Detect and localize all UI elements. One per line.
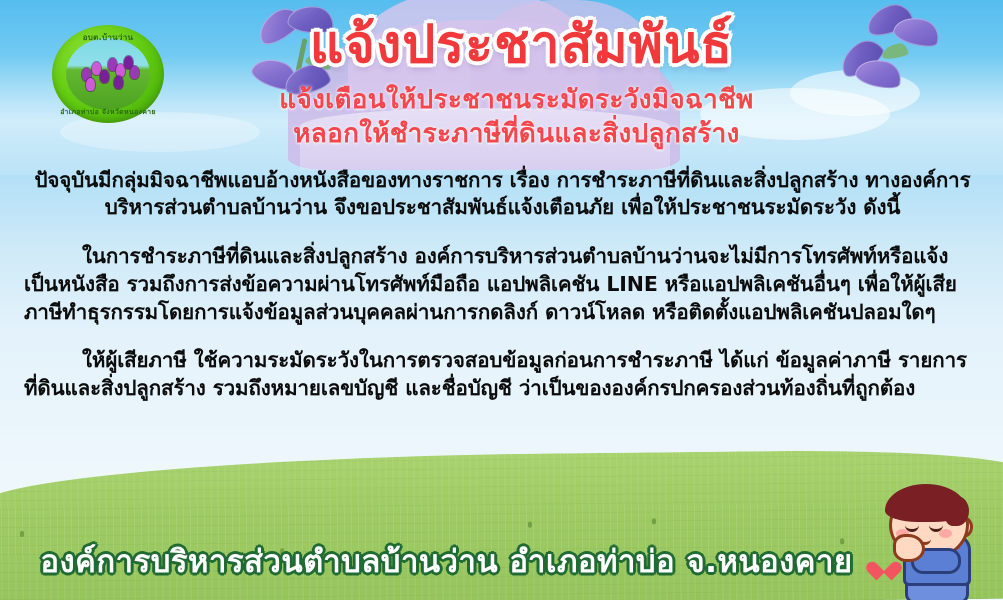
footer-organization-name: องค์การบริหารส่วนตำบลบ้านว่าน อำเภอท่าบ่…	[0, 536, 893, 586]
announcement-poster: อบต.บ้านว่าน อำเภอท่าบ่อ จังหวัดหนองคาย …	[0, 0, 1003, 600]
page-subtitle: แจ้งเตือนให้ประชาชนระมัดระวังมิจฉาชีพ หล…	[0, 83, 1003, 152]
paragraph-2: ในการชำระภาษีที่ดินและสิ่งปลูกสร้าง องค์…	[24, 243, 981, 327]
paragraph-1: ปัจจุบันมีกลุ่มมิจฉาชีพแอบอ้างหนังสือของ…	[24, 167, 981, 223]
announcement-body: ปัจจุบันมีกลุ่มมิจฉาชีพแอบอ้างหนังสือของ…	[24, 146, 981, 423]
heart-icon	[873, 554, 895, 574]
subtitle-line-1: แจ้งเตือนให้ประชาชนระมัดระวังมิจฉาชีพ	[30, 83, 1003, 117]
paragraph-3: ให้ผู้เสียภาษี ใช้ความระมัดระวังในการตรว…	[24, 347, 981, 403]
page-title: แจ้งประชาสัมพันธ์	[0, 18, 1003, 73]
cartoon-boy-mascot	[867, 482, 995, 600]
